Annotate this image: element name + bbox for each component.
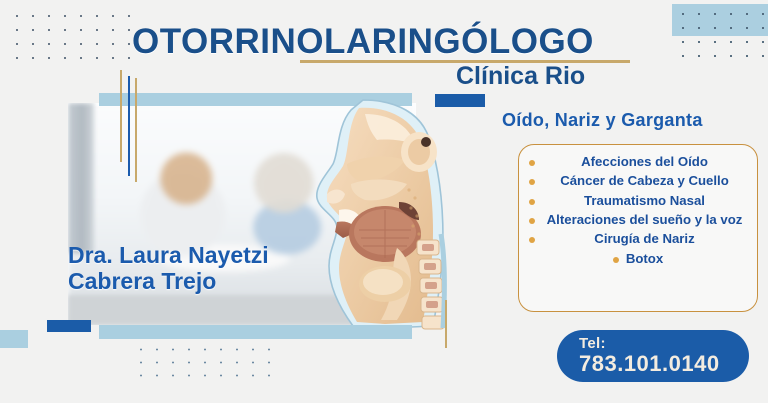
list-item: Cáncer de Cabeza y Cuello (529, 173, 747, 188)
service-label: Alteraciones del sueño y la voz (542, 212, 747, 227)
accent-line-gold-right (135, 78, 137, 182)
dot-grid-top-left (6, 6, 134, 62)
list-item: Botox (529, 251, 747, 266)
list-item: Alteraciones del sueño y la voz (529, 212, 747, 227)
accent-line-gold-bottom (445, 300, 447, 348)
service-label: Traumatismo Nasal (542, 193, 747, 208)
phone-number: 783.101.0140 (579, 352, 749, 377)
specialty-subtitle: Oído, Nariz y Garganta (502, 110, 703, 131)
services-list: Afecciones del Oído Cáncer de Cabeza y C… (518, 144, 758, 312)
page-title: OTORRINOLARINGÓLOGO (132, 22, 594, 62)
service-label: Afecciones del Oído (542, 154, 747, 169)
poster-canvas: OTORRINOLARINGÓLOGO Clínica Rio Oído, Na… (0, 0, 768, 403)
list-item: Traumatismo Nasal (529, 193, 747, 208)
dot-grid-bottom-left (130, 340, 270, 382)
bullet-icon (529, 160, 535, 166)
service-label: Cirugía de Nariz (542, 231, 747, 246)
service-label: Cáncer de Cabeza y Cuello (542, 173, 747, 188)
light-blue-square-left (0, 330, 28, 348)
blue-accent-rect-top (435, 94, 485, 107)
list-item: Afecciones del Oído (529, 154, 747, 169)
doctor-name: Dra. Laura Nayetzi Cabrera Trejo (68, 243, 269, 295)
clinic-name: Clínica Rio (456, 62, 585, 91)
bullet-icon (529, 179, 535, 185)
list-item: Cirugía de Nariz (529, 231, 747, 246)
blue-accent-rect-bottom (47, 320, 91, 332)
bullet-icon (613, 257, 619, 263)
service-label: Botox (626, 251, 663, 266)
bullet-icon (529, 218, 535, 224)
phone-label: Tel: (579, 336, 749, 352)
bullet-icon (529, 237, 535, 243)
head-anatomy-icon (293, 98, 461, 330)
phone-badge[interactable]: Tel: 783.101.0140 (557, 330, 749, 382)
accent-line-gold-left (120, 70, 122, 162)
bullet-icon (529, 199, 535, 205)
accent-line-blue (128, 76, 130, 176)
light-blue-bar-bottom (99, 325, 412, 339)
dot-grid-top-right (672, 4, 768, 66)
photo-left-shade (68, 103, 94, 253)
